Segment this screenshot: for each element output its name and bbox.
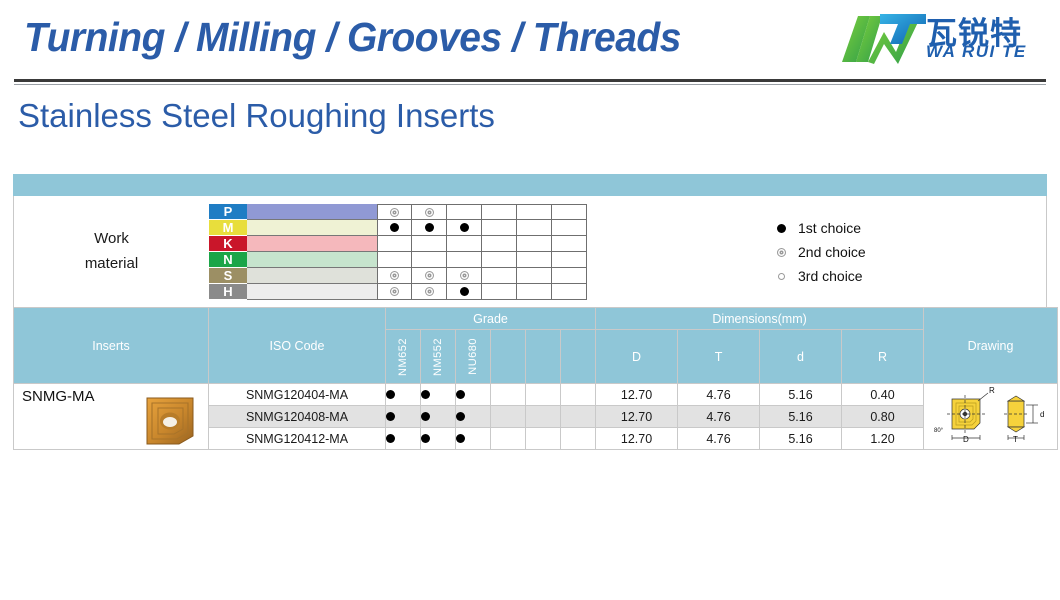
- work-material-mark-cell: [412, 252, 447, 268]
- th-grade-nu680: NU680: [456, 330, 491, 384]
- work-material-mark-cell: [412, 204, 447, 220]
- grade-mark-cell: [491, 384, 526, 406]
- first-choice-icon: [390, 223, 399, 232]
- company-logo: 瓦锐特 WA RUI TE: [840, 8, 1052, 70]
- work-material-mark-cell: [447, 252, 482, 268]
- grade-mark-cell: [561, 406, 596, 428]
- first-choice-icon: [421, 390, 430, 399]
- table-top-bar: [13, 174, 1047, 196]
- grade-mark-cell: [386, 384, 421, 406]
- dimension-cell-R: 1.20: [842, 428, 924, 450]
- dimension-cell-T: 4.76: [678, 428, 760, 450]
- th-grade-nm652: NM652: [386, 330, 421, 384]
- work-material-row: P: [209, 204, 589, 220]
- grade-mark-cell: [421, 384, 456, 406]
- work-material-row: M: [209, 220, 589, 236]
- catalog-table-block: Work material PMKNSH 1st choice 2nd choi…: [13, 174, 1047, 450]
- grade-mark-cell: [491, 406, 526, 428]
- work-material-letter-h: H: [209, 284, 247, 300]
- first-choice-icon: [460, 287, 469, 296]
- dimension-cell-D: 12.70: [596, 428, 678, 450]
- work-material-label-line1: Work: [94, 227, 129, 252]
- grade-mark-cell: [386, 406, 421, 428]
- legend-item: 1st choice: [774, 216, 866, 240]
- work-material-mark-cell: [377, 236, 412, 252]
- work-material-mark-cell: [447, 284, 482, 300]
- second-choice-icon: [425, 287, 434, 296]
- table-body: SNMG-MASNMG120404-MA12.704.765.160.40RDT…: [14, 384, 1058, 450]
- th-dimensions: Dimensions(mm): [596, 308, 924, 330]
- grade-mark-cell: [421, 428, 456, 450]
- header-divider-thin: [14, 84, 1046, 85]
- work-material-mark-cell: [412, 220, 447, 236]
- grade-mark-cell: [526, 428, 561, 450]
- grade-mark-cell: [526, 384, 561, 406]
- work-material-row: K: [209, 236, 589, 252]
- th-grade-nm552: NM552: [421, 330, 456, 384]
- work-material-label-line2: material: [85, 252, 138, 277]
- svg-text:T: T: [1013, 435, 1018, 444]
- work-material-mark-cell: [552, 204, 587, 220]
- legend-label: 3rd choice: [798, 268, 863, 284]
- work-material-mark-cell: [412, 268, 447, 284]
- work-material-mark-cell: [552, 284, 587, 300]
- second-choice-icon: [425, 271, 434, 280]
- work-material-letter-k: K: [209, 236, 247, 252]
- grade-mark-cell: [561, 428, 596, 450]
- first-choice-icon: [456, 434, 465, 443]
- first-choice-icon: [774, 224, 788, 233]
- work-material-mark-cell: [552, 252, 587, 268]
- dimension-cell-D: 12.70: [596, 384, 678, 406]
- grade-mark-cell: [456, 384, 491, 406]
- snmg-insert-photo: [139, 392, 201, 448]
- logo-english-text: WA RUI TE: [926, 42, 1027, 62]
- work-material-marks: [377, 236, 587, 252]
- work-material-mark-cell: [482, 204, 517, 220]
- work-material-mark-cell: [447, 204, 482, 220]
- work-material-mark-cell: [412, 236, 447, 252]
- insert-technical-drawing-icon: RDTd80°: [930, 387, 1052, 449]
- first-choice-icon: [456, 412, 465, 421]
- work-material-mark-cell: [517, 284, 552, 300]
- svg-text:R: R: [989, 387, 995, 395]
- work-material-mark-cell: [552, 236, 587, 252]
- legend-item: 2nd choice: [774, 240, 866, 264]
- work-material-marks: [377, 252, 587, 268]
- work-material-band: [247, 252, 377, 268]
- work-material-mark-cell: [482, 220, 517, 236]
- grade-mark-cell: [456, 406, 491, 428]
- th-dim-D: D: [596, 330, 678, 384]
- insert-family-cell: SNMG-MA: [14, 384, 209, 450]
- work-material-mark-cell: [377, 204, 412, 220]
- work-material-row: H: [209, 284, 589, 300]
- svg-text:D: D: [963, 435, 969, 444]
- dimension-cell-R: 0.40: [842, 384, 924, 406]
- dimension-cell-d: 5.16: [760, 406, 842, 428]
- header-divider: [14, 79, 1046, 82]
- dimension-cell-T: 4.76: [678, 384, 760, 406]
- work-material-letter-n: N: [209, 252, 247, 268]
- second-choice-icon: [390, 271, 399, 280]
- second-choice-icon: [460, 271, 469, 280]
- dimension-cell-d: 5.16: [760, 428, 842, 450]
- page-header: Turning / Milling / Grooves / Threads 瓦锐…: [0, 0, 1060, 86]
- th-grade-blank: [561, 330, 596, 384]
- grade-mark-cell: [386, 428, 421, 450]
- first-choice-icon: [421, 434, 430, 443]
- work-material-mark-cell: [552, 220, 587, 236]
- dimension-cell-D: 12.70: [596, 406, 678, 428]
- work-material-marks: [377, 204, 587, 220]
- th-drawing: Drawing: [924, 308, 1058, 384]
- first-choice-icon: [425, 223, 434, 232]
- work-material-mark-cell: [517, 252, 552, 268]
- work-material-mark-cell: [517, 204, 552, 220]
- page-title: Stainless Steel Roughing Inserts: [18, 97, 495, 135]
- th-grade: Grade: [386, 308, 596, 330]
- dimension-cell-R: 0.80: [842, 406, 924, 428]
- work-material-grid: PMKNSH: [209, 204, 589, 300]
- work-material-mark-cell: [517, 236, 552, 252]
- work-material-mark-cell: [552, 268, 587, 284]
- header-title: Turning / Milling / Grooves / Threads: [24, 14, 681, 61]
- work-material-mark-cell: [482, 284, 517, 300]
- work-material-band: [247, 220, 377, 236]
- work-material-label: Work material: [14, 196, 209, 307]
- work-material-row: S: [209, 268, 589, 284]
- first-choice-icon: [386, 412, 395, 421]
- first-choice-icon: [456, 390, 465, 399]
- work-material-marks: [377, 220, 587, 236]
- choice-legend: 1st choice 2nd choice 3rd choice: [774, 216, 866, 288]
- work-material-band: [247, 268, 377, 284]
- iso-code-cell: SNMG120408-MA: [209, 406, 386, 428]
- work-material-row: N: [209, 252, 589, 268]
- grade-mark-cell: [421, 406, 456, 428]
- second-choice-icon: [390, 208, 399, 217]
- work-material-mark-cell: [377, 268, 412, 284]
- second-choice-icon: [425, 208, 434, 217]
- work-material-mark-cell: [377, 284, 412, 300]
- th-dim-R: R: [842, 330, 924, 384]
- th-grade-blank: [526, 330, 561, 384]
- dimension-cell-d: 5.16: [760, 384, 842, 406]
- work-material-band: [247, 236, 377, 252]
- work-material-mark-cell: [377, 220, 412, 236]
- product-table: Inserts ISO Code Grade Dimensions(mm) Dr…: [13, 307, 1058, 450]
- work-material-mark-cell: [447, 268, 482, 284]
- th-inserts: Inserts: [14, 308, 209, 384]
- svg-text:d: d: [1040, 410, 1044, 419]
- th-dim-d: d: [760, 330, 842, 384]
- work-material-mark-cell: [517, 268, 552, 284]
- legend-item: 3rd choice: [774, 264, 866, 288]
- second-choice-icon: [774, 248, 788, 257]
- work-material-mark-cell: [412, 284, 447, 300]
- work-material-mark-cell: [447, 220, 482, 236]
- work-material-band: [247, 204, 377, 220]
- first-choice-icon: [421, 412, 430, 421]
- first-choice-icon: [386, 390, 395, 399]
- work-material-band: [247, 284, 377, 300]
- work-material-marks: [377, 284, 587, 300]
- drawing-cell: RDTd80°: [924, 384, 1058, 450]
- work-material-mark-cell: [482, 252, 517, 268]
- table-row[interactable]: SNMG-MASNMG120404-MA12.704.765.160.40RDT…: [14, 384, 1058, 406]
- work-material-mark-cell: [482, 268, 517, 284]
- grade-mark-cell: [456, 428, 491, 450]
- iso-code-cell: SNMG120404-MA: [209, 384, 386, 406]
- iso-code-cell: SNMG120412-MA: [209, 428, 386, 450]
- insert-family-name: SNMG-MA: [22, 388, 95, 405]
- first-choice-icon: [386, 434, 395, 443]
- second-choice-icon: [390, 287, 399, 296]
- work-material-mark-cell: [482, 236, 517, 252]
- grade-mark-cell: [561, 384, 596, 406]
- work-material-letter-p: P: [209, 204, 247, 220]
- dimension-cell-T: 4.76: [678, 406, 760, 428]
- th-grade-blank: [491, 330, 526, 384]
- legend-label: 2nd choice: [798, 244, 866, 260]
- work-material-letter-m: M: [209, 220, 247, 236]
- th-iso-code: ISO Code: [209, 308, 386, 384]
- table-head-row-1: Inserts ISO Code Grade Dimensions(mm) Dr…: [14, 308, 1058, 330]
- work-material-marks: [377, 268, 587, 284]
- work-material-mark-cell: [517, 220, 552, 236]
- grade-mark-cell: [491, 428, 526, 450]
- first-choice-icon: [460, 223, 469, 232]
- grade-mark-cell: [526, 406, 561, 428]
- legend-label: 1st choice: [798, 220, 861, 236]
- logo-mark-icon: [840, 10, 928, 66]
- work-material-letter-s: S: [209, 268, 247, 284]
- work-material-section: Work material PMKNSH 1st choice 2nd choi…: [13, 196, 1047, 307]
- work-material-mark-cell: [447, 236, 482, 252]
- svg-text:80°: 80°: [934, 428, 944, 434]
- th-dim-T: T: [678, 330, 760, 384]
- third-choice-icon: [774, 273, 788, 280]
- work-material-mark-cell: [377, 252, 412, 268]
- table-head: Inserts ISO Code Grade Dimensions(mm) Dr…: [14, 308, 1058, 384]
